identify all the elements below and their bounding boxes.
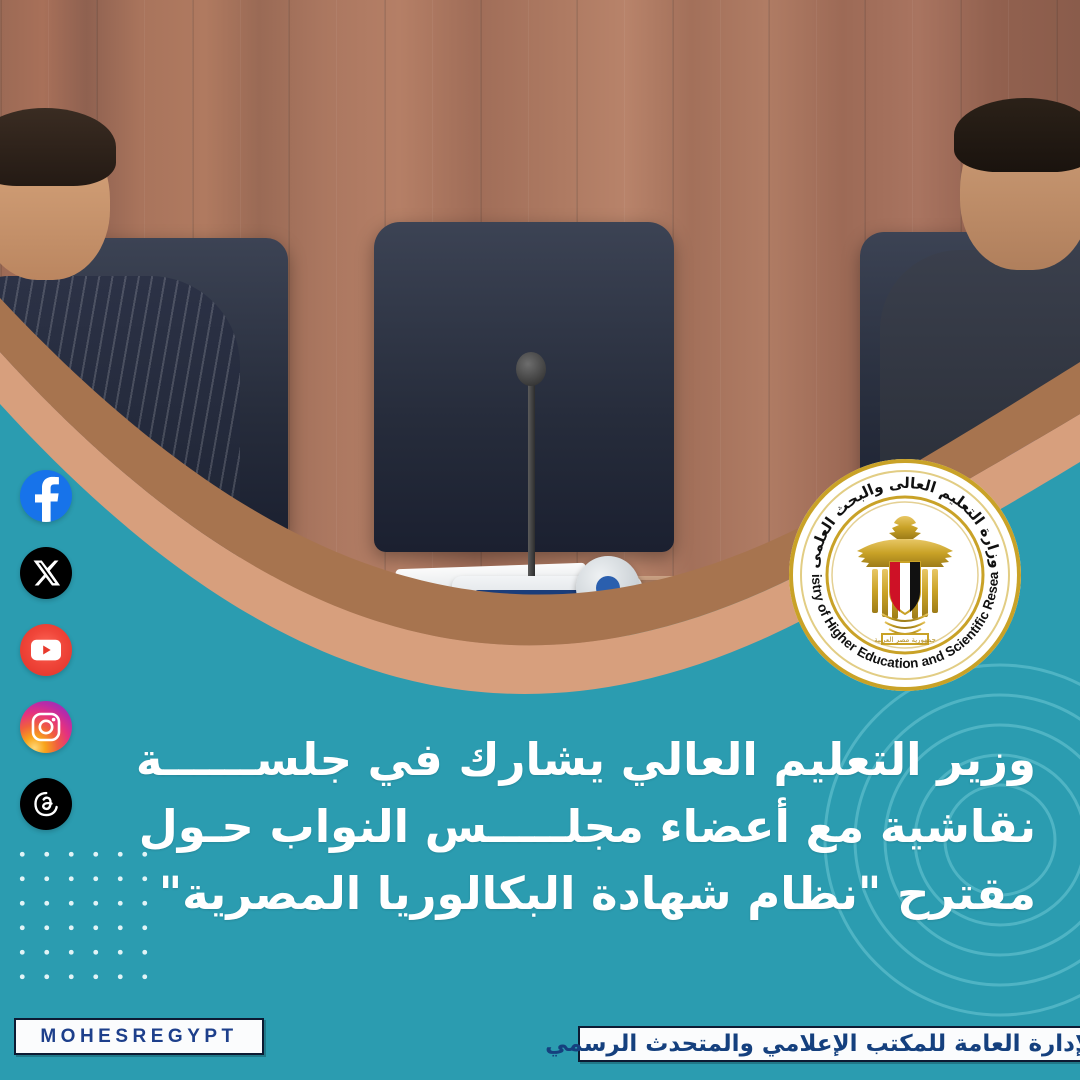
- brand-handle-text: MOHESREGYPT: [40, 1026, 237, 1048]
- social-links[interactable]: [16, 470, 72, 830]
- social-media-post-card: وزارة التعليم العالى والبحث العلمى Minis…: [0, 0, 1080, 1080]
- media-office-box: الإدارة العامة للمكتب الإعلامي والمتحدث …: [578, 1026, 1080, 1062]
- microphone-head: [516, 352, 546, 386]
- headline-line-2: نقاشية مع أعضاء مجلـــــس النواب حـول: [176, 793, 1036, 860]
- chair-center: [374, 222, 674, 552]
- dot-grid-decor: [8, 840, 154, 990]
- headline-line-3: مقترح "نظام شهادة البكالوريا المصرية": [176, 860, 1036, 927]
- ministry-seal: وزارة التعليم العالى والبحث العلمى Minis…: [786, 456, 1024, 694]
- seal-scroll-text: جمهورية مصر العربية: [874, 636, 936, 644]
- media-office-text: الإدارة العامة للمكتب الإعلامي والمتحدث …: [545, 1031, 1080, 1057]
- instagram-icon[interactable]: [20, 701, 72, 753]
- threads-icon[interactable]: [20, 778, 72, 830]
- microphone-stem: [528, 370, 535, 580]
- brand-handle-box: MOHESREGYPT: [14, 1018, 264, 1055]
- headline: وزير التعليم العالي يشارك في جلســــــة …: [176, 726, 1036, 927]
- official-right-hair: [954, 98, 1080, 172]
- x-twitter-icon[interactable]: [20, 547, 72, 599]
- youtube-icon[interactable]: [20, 624, 72, 676]
- headline-line-1: وزير التعليم العالي يشارك في جلســــــة: [176, 726, 1036, 793]
- facebook-icon[interactable]: [20, 470, 72, 522]
- conference-unit-knob: [576, 556, 640, 620]
